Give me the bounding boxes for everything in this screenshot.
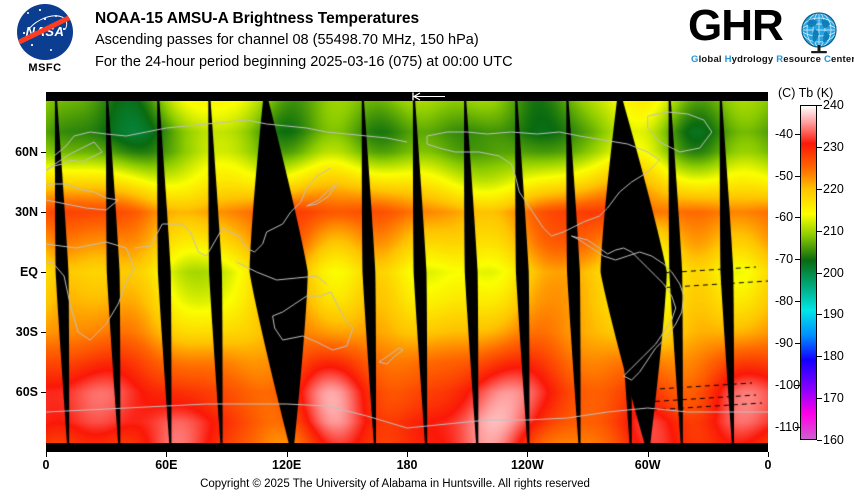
colorbar-label-kelvin: 180 — [823, 349, 844, 363]
x-axis-tick — [46, 452, 47, 457]
y-axis-label: 30N — [0, 205, 38, 219]
colorbar-tick-kelvin — [817, 356, 822, 357]
x-axis-tick — [166, 452, 167, 457]
colorbar-tick-celsius — [795, 176, 800, 177]
x-axis-label: 60W — [635, 458, 661, 472]
nasa-center-label: MSFC — [8, 62, 82, 74]
subtitle-channel: Ascending passes for channel 08 (55498.7… — [95, 29, 513, 51]
y-axis-tick — [41, 332, 46, 333]
colorbar-label-kelvin: 160 — [823, 433, 844, 447]
nasa-logo: NASA MSFC — [8, 4, 82, 78]
colorbar-tick-celsius — [795, 134, 800, 135]
colorbar-tick-kelvin — [817, 189, 822, 190]
x-axis-label: 120W — [511, 458, 544, 472]
map-plot-area[interactable] — [46, 92, 768, 452]
colorbar-label-celsius: -110 — [775, 420, 793, 434]
x-axis-tick — [768, 452, 769, 457]
left-arrow-icon — [411, 92, 451, 101]
x-axis-label: 60E — [155, 458, 177, 472]
colorbar-gradient — [801, 106, 816, 439]
x-axis-tick — [648, 452, 649, 457]
colorbar-label-kelvin: 230 — [823, 140, 844, 154]
x-axis-label: 0 — [765, 458, 772, 472]
colorbar-label-kelvin: 200 — [823, 266, 844, 280]
x-axis-tick — [407, 452, 408, 457]
x-axis-label: 120E — [272, 458, 301, 472]
globe-icon — [798, 10, 842, 54]
map-top-band — [46, 92, 768, 101]
colorbar-tick-kelvin — [817, 314, 822, 315]
page-title: NOAA-15 AMSU-A Brightness Temperatures — [95, 8, 513, 29]
y-axis-tick — [41, 212, 46, 213]
ghrc-tagline: Global Hydrology Resource Center — [691, 54, 854, 65]
colorbar-label-celsius: -50 — [775, 169, 793, 183]
colorbar-label-kelvin: 210 — [823, 224, 844, 238]
colorbar-tick-kelvin — [817, 147, 822, 148]
colorbar-tick-kelvin — [817, 105, 822, 106]
y-axis-tick — [41, 272, 46, 273]
x-axis-tick — [287, 452, 288, 457]
colorbar-label-kelvin: 220 — [823, 182, 844, 196]
x-axis-label: 180 — [397, 458, 418, 472]
colorbar-label-celsius: -70 — [775, 252, 793, 266]
y-axis-label: 30S — [0, 325, 38, 339]
colorbar-label-kelvin: 240 — [823, 98, 844, 112]
colorbar-label-kelvin: 190 — [823, 307, 844, 321]
colorbar[interactable] — [800, 105, 817, 440]
x-axis-label: 0 — [43, 458, 50, 472]
map-bottom-band — [46, 443, 768, 452]
colorbar-tick-celsius — [795, 217, 800, 218]
colorbar-label-celsius: -40 — [775, 127, 793, 141]
colorbar-tick-kelvin — [817, 398, 822, 399]
brightness-temperature-heatmap — [46, 92, 768, 452]
ghrc-logo: GHR Global Hydrology Resource Center — [688, 4, 846, 70]
colorbar-tick-celsius — [795, 343, 800, 344]
colorbar-label-kelvin: 170 — [823, 391, 844, 405]
colorbar-label-celsius: -100 — [775, 378, 793, 392]
title-block: NOAA-15 AMSU-A Brightness Temperatures A… — [95, 8, 513, 73]
x-axis-tick — [527, 452, 528, 457]
colorbar-tick-celsius — [795, 301, 800, 302]
y-axis-label: EQ — [0, 265, 38, 279]
y-axis-tick — [41, 392, 46, 393]
nasa-meatball-icon: NASA — [17, 4, 73, 60]
ghrc-acronym: GHR — [688, 4, 783, 48]
y-axis-tick — [41, 152, 46, 153]
colorbar-label-celsius: -60 — [775, 210, 793, 224]
y-axis-label: 60N — [0, 145, 38, 159]
y-axis-label: 60S — [0, 385, 38, 399]
colorbar-label-celsius: -90 — [775, 336, 793, 350]
subtitle-period: For the 24-hour period beginning 2025-03… — [95, 51, 513, 73]
colorbar-tick-kelvin — [817, 440, 822, 441]
colorbar-label-celsius: -80 — [775, 294, 793, 308]
colorbar-tick-celsius — [795, 259, 800, 260]
colorbar-tick-kelvin — [817, 231, 822, 232]
colorbar-tick-kelvin — [817, 273, 822, 274]
copyright-notice: Copyright © 2025 The University of Alaba… — [0, 478, 790, 490]
